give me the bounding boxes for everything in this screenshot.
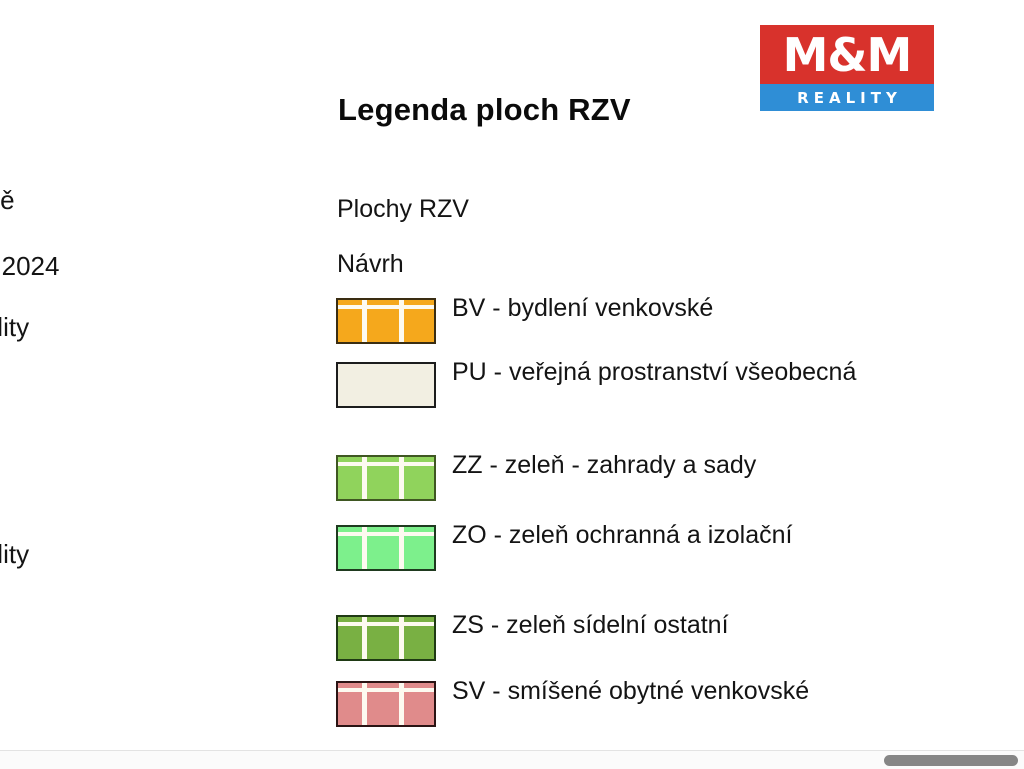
legend-item: ZS - zeleň sídelní ostatní <box>336 615 896 681</box>
horizontal-scrollbar-thumb[interactable] <box>884 755 1018 766</box>
legend-heading-plochy: Plochy RZV <box>337 195 469 224</box>
legend-item-label: ZO - zeleň ochranná a izolační <box>452 520 882 551</box>
legend-swatch-gridline <box>362 300 367 342</box>
legend-swatch <box>336 362 436 408</box>
logo-subtitle: REALITY <box>792 89 902 107</box>
legend-swatch-gridline <box>362 683 367 725</box>
left-text-row: měn v krajině <box>0 185 15 215</box>
legend-swatch-gridline <box>338 462 434 466</box>
left-text-row: ogické stability <box>0 312 29 342</box>
horizontal-scrollbar[interactable] <box>0 750 1024 769</box>
legend-swatch <box>336 298 436 344</box>
legend-swatch-gridline <box>362 617 367 659</box>
legend-swatch <box>336 681 436 727</box>
document-viewport: níná plochaměn v krajinězemí k 29.2.2024… <box>0 0 1024 750</box>
legend-swatch <box>336 615 436 661</box>
legend-item: PU - veřejná prostranství všeobecná <box>336 362 896 455</box>
legend-item: ZO - zeleň ochranná a izolační <box>336 525 896 615</box>
left-text-row: ogické stability <box>0 539 29 569</box>
legend-item-label: ZS - zeleň sídelní ostatní <box>452 610 882 641</box>
legend-swatch-gridline <box>399 527 404 569</box>
mm-reality-logo: M&M REALITY <box>760 25 934 111</box>
page-title: Legenda ploch RZV <box>338 92 631 128</box>
legend-swatch <box>336 525 436 571</box>
legend-heading-navrh: Návrh <box>337 250 404 279</box>
legend-swatch-gridline <box>399 300 404 342</box>
left-text-row: zemí k 29.2.2024 <box>0 251 59 281</box>
legend-item-label: ZZ - zeleň - zahrady a sady <box>452 450 882 481</box>
legend-swatch-gridline <box>338 688 434 692</box>
legend-item-list: BV - bydlení venkovskéPU - veřejná prost… <box>336 298 896 750</box>
legend-swatch-gridline <box>338 532 434 536</box>
logo-wordmark: M&M <box>783 32 912 78</box>
legend-swatch-gridline <box>399 617 404 659</box>
legend-item: BV - bydlení venkovské <box>336 298 896 362</box>
legend-swatch-gridline <box>362 457 367 499</box>
legend-swatch-fill <box>338 364 434 406</box>
legend-swatch-gridline <box>399 457 404 499</box>
legend-swatch-gridline <box>338 622 434 626</box>
logo-red-block: M&M <box>760 25 934 84</box>
legend-item-label: BV - bydlení venkovské <box>452 293 882 324</box>
legend-swatch-gridline <box>399 683 404 725</box>
legend-swatch-gridline <box>338 305 434 309</box>
logo-blue-block: REALITY <box>760 84 934 111</box>
legend-item-label: PU - veřejná prostranství všeobecná <box>452 357 882 388</box>
legend-item: SV - smíšené obytné venkovské <box>336 681 896 750</box>
legend-item-label: SV - smíšené obytné venkovské <box>452 676 882 707</box>
legend-swatch-gridline <box>362 527 367 569</box>
legend-item: ZZ - zeleň - zahrady a sady <box>336 455 896 525</box>
legend-swatch <box>336 455 436 501</box>
